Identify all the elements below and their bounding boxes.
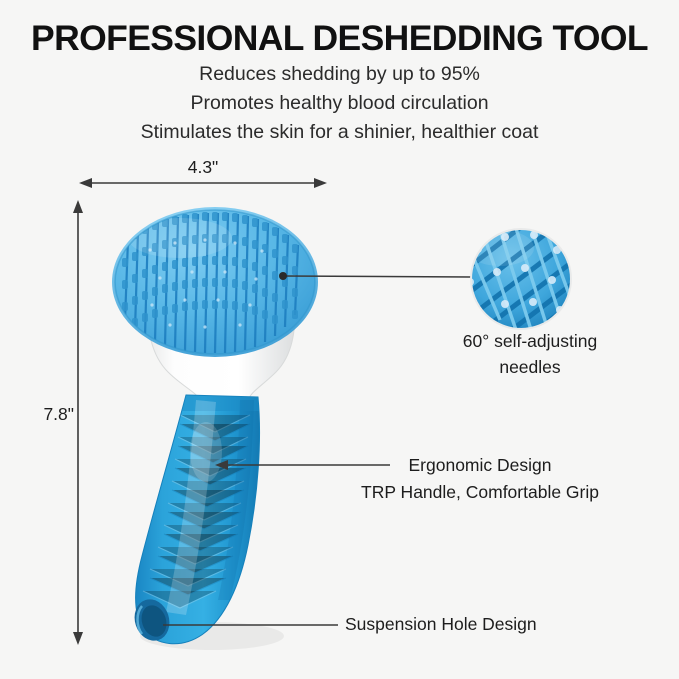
ergonomic-callout-line2: TRP Handle, Comfortable Grip — [330, 479, 630, 506]
dimension-width — [79, 178, 327, 188]
needle-callout: 60° self-adjusting needles — [410, 328, 650, 380]
needle-anchor-dot — [279, 272, 287, 280]
suspension-callout-label: Suspension Hole Design — [345, 614, 537, 635]
ergonomic-callout: Ergonomic Design TRP Handle, Comfortable… — [330, 452, 630, 506]
dimension-height-label: 7.8" — [18, 404, 74, 425]
ergonomic-callout-line1: Ergonomic Design — [330, 452, 630, 479]
dimension-width-label: 4.3" — [160, 157, 246, 178]
needle-callout-line1: 60° self-adjusting — [410, 328, 650, 354]
needle-leader-line — [283, 276, 471, 277]
needle-callout-line2: needles — [410, 354, 650, 380]
dimension-height — [73, 200, 83, 645]
infographic-canvas: PROFESSIONAL DESHEDDING TOOL Reduces she… — [0, 0, 679, 679]
